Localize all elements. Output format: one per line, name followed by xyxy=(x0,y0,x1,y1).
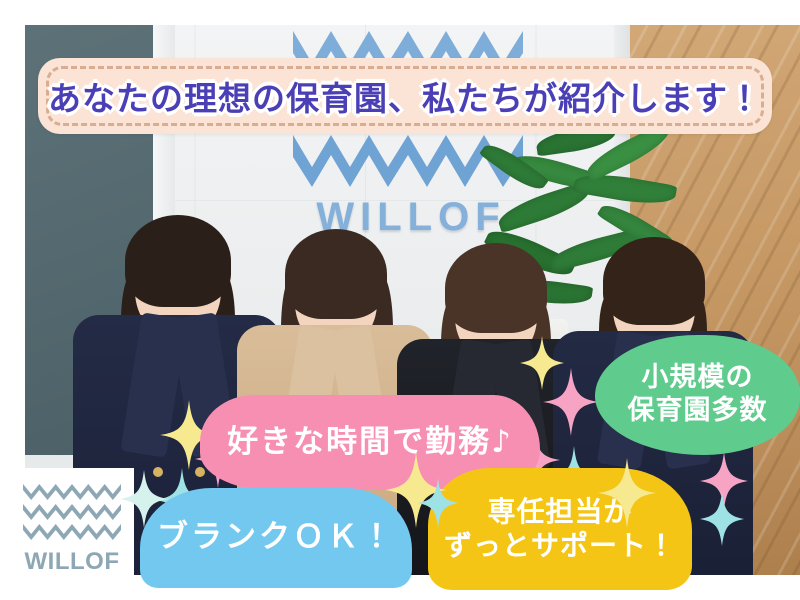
sparkle-pink-icon-2 xyxy=(543,368,599,436)
bubble-line: ブランクＯＫ！ xyxy=(157,519,395,557)
headline-text: あなたの理想の保育園、私たちが紹介します！ xyxy=(38,58,772,134)
bubble-line: 好きな時間で勤務♪ xyxy=(227,424,513,462)
zigzag-chevron-icon xyxy=(23,483,121,500)
sparkle-cyan-icon-5 xyxy=(120,470,168,528)
hair-top xyxy=(285,229,387,319)
recruitment-banner-ad: WILLOF xyxy=(0,0,800,600)
hair-top xyxy=(603,237,705,325)
bubble-line: 小規模の xyxy=(642,362,754,395)
sparkle-yellow-icon-4 xyxy=(598,458,656,528)
bubble-blank-ok: ブランクＯＫ！ xyxy=(140,488,412,588)
willof-logo: WILLOF xyxy=(10,468,134,590)
sparkle-cyan-icon-4 xyxy=(700,492,744,546)
willof-wordmark: WILLOF xyxy=(25,548,120,576)
hair-top xyxy=(445,243,547,333)
hair-top xyxy=(125,215,231,307)
headline-banner: あなたの理想の保育園、私たちが紹介します！ xyxy=(38,58,772,134)
zigzag-chevron-icon-3 xyxy=(23,523,121,540)
bubble-line: 保育園多数 xyxy=(628,395,768,428)
bubble-line: ずっとサポート！ xyxy=(444,529,676,563)
zigzag-chevron-icon-2 xyxy=(23,503,121,520)
sparkle-cyan-icon-3 xyxy=(418,478,458,528)
bubble-small-nurseries: 小規模の 保育園多数 xyxy=(595,335,800,455)
